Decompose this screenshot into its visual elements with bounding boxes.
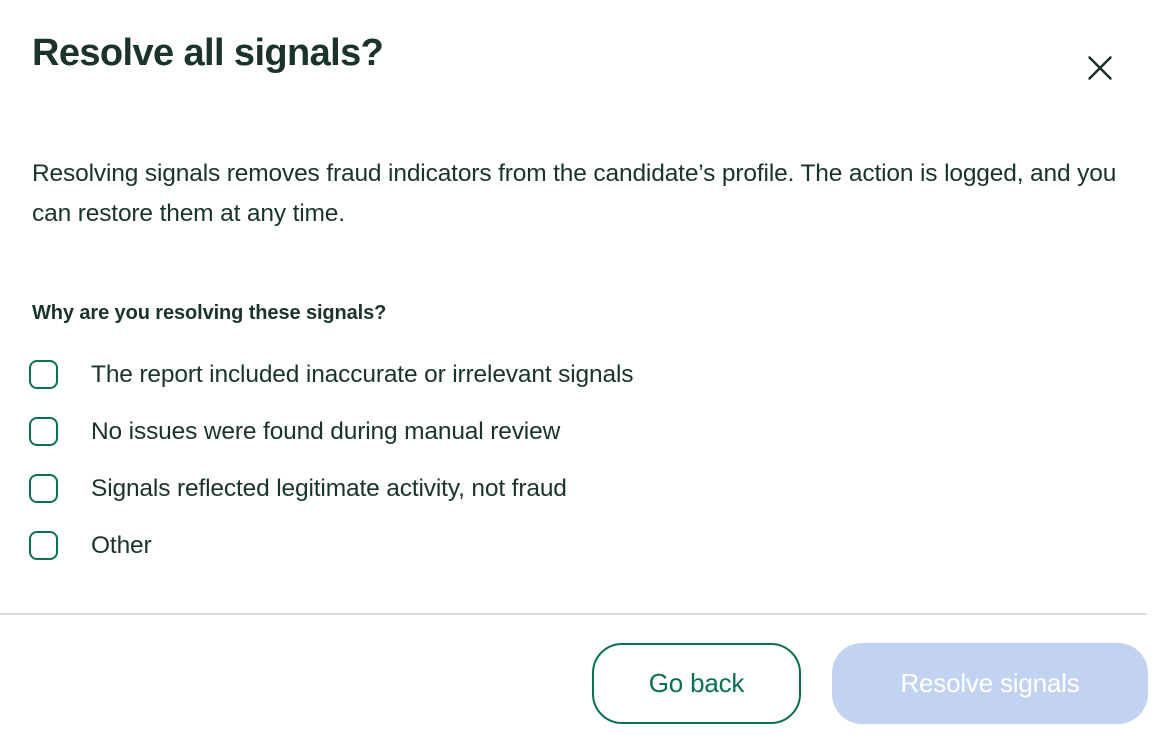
list-item[interactable]: Other — [32, 517, 1132, 574]
dialog-footer: Go back Resolve signals — [0, 615, 1164, 752]
list-item-label: Other — [91, 531, 152, 561]
reason-question-label: Why are you resolving these signals? — [32, 234, 1132, 325]
dialog-body: Resolving signals removes fraud indicato… — [0, 96, 1164, 613]
resolve-signals-dialog: Resolve all signals? Resolving signals r… — [0, 0, 1164, 752]
list-item-label: Signals reflected legitimate activity, n… — [91, 474, 567, 504]
checkbox-reason-4[interactable] — [29, 531, 58, 560]
checkbox-reason-2[interactable] — [29, 417, 58, 446]
reason-options-list: The report included inaccurate or irrele… — [32, 325, 1132, 574]
close-button[interactable] — [1082, 50, 1118, 86]
checkbox-reason-3[interactable] — [29, 474, 58, 503]
close-icon — [1086, 54, 1114, 82]
list-item-label: The report included inaccurate or irrele… — [91, 360, 633, 390]
checkbox-reason-1[interactable] — [29, 360, 58, 389]
dialog-description: Resolving signals removes fraud indicato… — [32, 96, 1132, 234]
resolve-signals-button[interactable]: Resolve signals — [832, 643, 1148, 724]
dialog-header: Resolve all signals? — [0, 0, 1164, 96]
list-item[interactable]: The report included inaccurate or irrele… — [32, 346, 1132, 403]
go-back-button[interactable]: Go back — [592, 643, 801, 724]
list-item-label: No issues were found during manual revie… — [91, 417, 560, 447]
page-title: Resolve all signals? — [32, 30, 1132, 76]
list-item[interactable]: No issues were found during manual revie… — [32, 403, 1132, 460]
list-item[interactable]: Signals reflected legitimate activity, n… — [32, 460, 1132, 517]
